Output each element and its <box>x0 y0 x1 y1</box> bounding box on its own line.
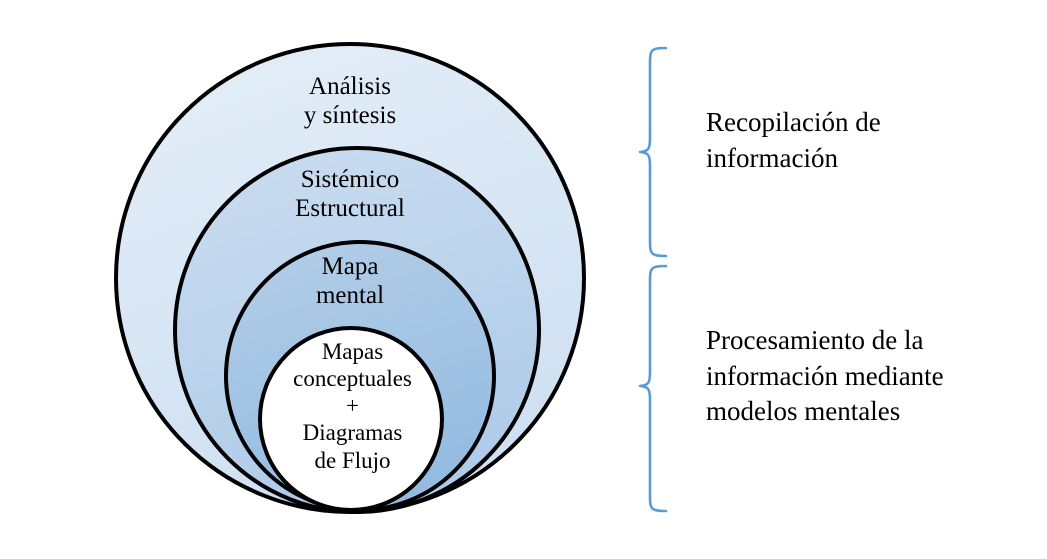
diagram-canvas: Análisis y síntesis Sistémico Estructura… <box>0 0 1047 559</box>
core-circle-shape <box>260 328 442 510</box>
bracket-top-label: Recopilación de información <box>706 105 1036 176</box>
bracket-bottom-icon <box>640 266 666 511</box>
bracket-top-icon <box>640 48 666 256</box>
nested-circles-graphic <box>0 0 1047 559</box>
bracket-bottom-label: Procesamiento de la información mediante… <box>706 323 1036 430</box>
